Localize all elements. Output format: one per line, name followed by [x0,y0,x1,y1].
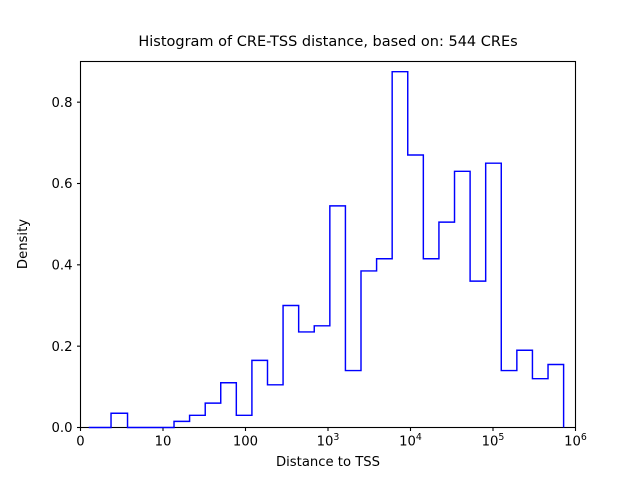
y-axis-ticks: 0.00.20.40.60.8 [52,96,81,436]
x-tick-label: 105 [482,432,505,450]
page-title: Histogram of CRE-TSS distance, based on:… [138,34,517,50]
y-tick-label: 0.8 [52,96,73,111]
x-tick-label: 106 [564,432,587,450]
chart-title-group: Histogram of CRE-TSS distance, based on:… [138,34,517,50]
figure-canvas: Histogram of CRE-TSS distance, based on:… [0,0,640,480]
y-tick-label: 0.0 [52,421,73,436]
x-tick-label: 0 [76,435,84,450]
y-tick-label: 0.4 [52,258,73,273]
y-axis-label: Density [16,219,31,269]
histogram-series [89,72,564,428]
density-step-line [89,72,564,428]
x-tick-label: 104 [399,432,422,450]
x-tick-label: 100 [233,435,258,450]
x-tick-label: 10 [155,435,172,450]
histogram-chart: Histogram of CRE-TSS distance, based on:… [0,0,640,480]
y-tick-label: 0.2 [52,340,73,355]
x-axis-label: Distance to TSS [276,455,380,470]
x-axis-ticks: 010100103104105106 [76,428,587,450]
y-tick-label: 0.6 [52,177,73,192]
x-tick-label: 103 [317,432,340,450]
